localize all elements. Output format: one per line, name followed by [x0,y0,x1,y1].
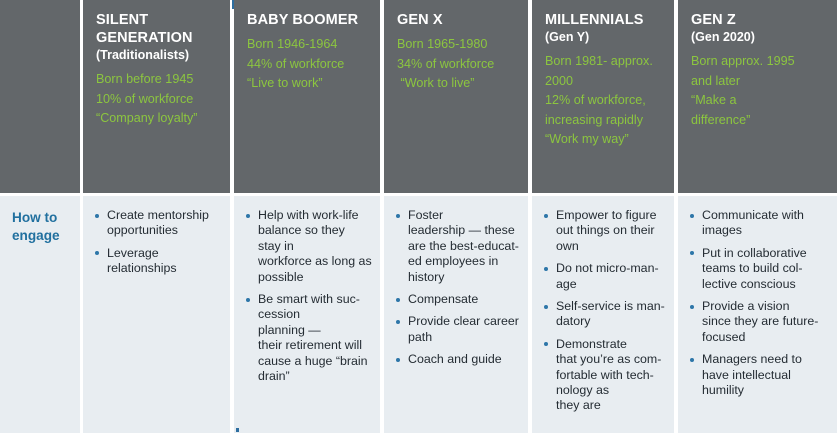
generation-fact: 12% of workforce, increasing rapidly [545,91,663,130]
generation-fact: Born 1965-1980 [397,35,517,55]
list-item: Foster leadership — these are the best-e… [394,208,520,285]
generation-facts: Born 1965-1980 34% of workforce “Work to… [397,35,517,94]
engagement-list: Create mentorship opportunities Leverage… [93,208,222,277]
header-cell-silent-generation: SILENT GENERATION (Traditionalists) Born… [83,0,230,193]
generation-subtitle: (Traditionalists) [96,47,219,64]
list-item: Compensate [394,292,520,307]
table-body-row-how-to-engage: How to engage Create mentorship opportun… [0,196,837,436]
row-label-cell: How to engage [0,196,80,433]
engagement-list: Empower to figure out things on their ow… [542,208,666,414]
generation-facts: Born before 1945 10% of workforce “Compa… [96,70,219,129]
row-label-how-to-engage: How to engage [12,209,74,244]
generation-fact: Born before 1945 [96,70,219,90]
generation-facts: Born 1981- approx. 2000 12% of workforce… [545,52,663,150]
generation-fact: “Company loyalty” [96,109,219,129]
body-cell-gen-z: Communicate with images Put in collabora… [678,196,837,433]
header-cell-gen-z: GEN Z (Gen 2020) Born approx. 1995 and l… [678,0,837,193]
generation-title: MILLENNIALS [545,11,663,29]
header-cell-millennials: MILLENNIALS (Gen Y) Born 1981- approx. 2… [532,0,674,193]
list-item: Help with work-life balance so they stay… [244,208,372,285]
body-cell-baby-boomer: Help with work-life balance so they stay… [234,196,380,433]
bottom-tick-mark [236,428,239,432]
list-item: Self-service is man- datory [542,299,666,330]
generation-fact: “Make a difference” [691,91,826,130]
body-cell-gen-x: Foster leadership — these are the best-e… [384,196,528,433]
list-item: Do not micro-man- age [542,261,666,292]
generation-facts: Born approx. 1995 and later “Make a diff… [691,52,826,130]
generation-title: GEN X [397,11,517,29]
list-item: Leverage relationships [93,246,222,277]
generation-fact: 10% of workforce [96,90,219,110]
list-item: Provide a vision since they are future- … [688,299,829,345]
generation-fact: 44% of workforce [247,55,369,75]
generation-title: BABY BOOMER [247,11,369,29]
generation-title: GEN Z [691,11,826,29]
generation-fact: Born 1981- approx. 2000 [545,52,663,91]
generation-subtitle: (Gen Y) [545,29,663,46]
header-corner-cell [0,0,80,193]
engagement-list: Foster leadership — these are the best-e… [394,208,520,368]
engagement-list: Communicate with images Put in collabora… [688,208,829,398]
header-cell-gen-x: GEN X Born 1965-1980 34% of workforce “W… [384,0,528,193]
generation-title: SILENT GENERATION [96,11,219,47]
generation-fact: “Work to live” [397,74,517,94]
engagement-list: Help with work-life balance so they stay… [244,208,372,384]
generation-fact: Born 1946-1964 [247,35,369,55]
generation-fact: 34% of workforce [397,55,517,75]
generation-subtitle: (Gen 2020) [691,29,826,46]
generations-comparison-table: SILENT GENERATION (Traditionalists) Born… [0,0,837,436]
generation-fact: “Live to work” [247,74,369,94]
list-item: Provide clear career path [394,314,520,345]
body-cell-millennials: Empower to figure out things on their ow… [532,196,674,433]
generation-facts: Born 1946-1964 44% of workforce “Live to… [247,35,369,94]
list-item: Coach and guide [394,352,520,367]
list-item: Put in collaborative teams to build col-… [688,246,829,292]
header-cell-baby-boomer: BABY BOOMER Born 1946-1964 44% of workfo… [234,0,380,193]
top-tick-mark [232,0,234,9]
list-item: Be smart with suc- cession planning — th… [244,292,372,384]
list-item: Communicate with images [688,208,829,239]
list-item: Create mentorship opportunities [93,208,222,239]
list-item: Empower to figure out things on their ow… [542,208,666,254]
list-item: Managers need to have intellectual humil… [688,352,829,398]
body-cell-silent-generation: Create mentorship opportunities Leverage… [83,196,230,433]
generation-fact: Born approx. 1995 and later [691,52,826,91]
generation-fact: “Work my way” [545,130,663,150]
list-item: Demonstrate that you’re as com- fortable… [542,337,666,414]
table-header-row: SILENT GENERATION (Traditionalists) Born… [0,0,837,193]
